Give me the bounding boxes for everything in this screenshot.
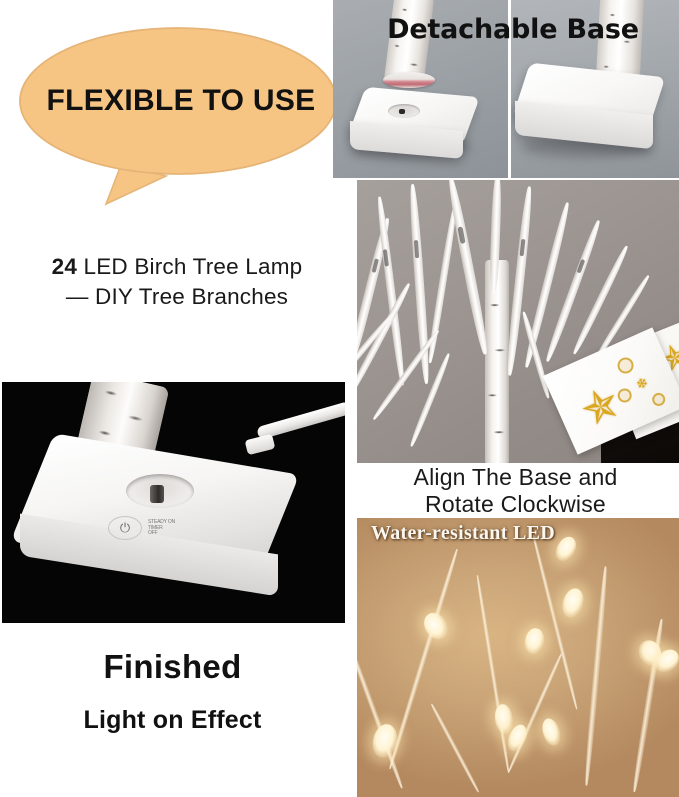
- product-infographic-page: FLEXIBLE TO USE 24 LED Birch Tree Lamp —…: [0, 0, 679, 797]
- detachable-base-panel: Detachable Base: [333, 0, 679, 178]
- tree-instruction-caption: Align The Base and Rotate Clockwise: [352, 464, 679, 518]
- light-on-effect-caption: Light on Effect: [0, 706, 345, 735]
- mode-label-line-3: OFF: [148, 531, 175, 537]
- finished-caption: Finished: [0, 648, 345, 686]
- led-bulb: [559, 586, 586, 620]
- gold-star-icon: ✯: [575, 380, 627, 435]
- birch-tree-branches-photo: ✯ ✯ ❄ ✯ ❄: [357, 180, 679, 463]
- led-branch: [357, 642, 404, 789]
- led-branch: [583, 566, 608, 786]
- base-socket-pin: [399, 109, 405, 114]
- gold-circle-icon: [615, 355, 636, 376]
- tree-caption-line-2: Rotate Clockwise: [352, 491, 679, 518]
- led-branch: [475, 575, 510, 773]
- water-resistant-led-title: Water-resistant LED: [371, 522, 555, 545]
- gold-star-card-overlay: ✯ ✯ ❄ ✯ ❄: [553, 328, 679, 463]
- base-socket-pin: [150, 485, 164, 503]
- tree-main-trunk: [485, 260, 509, 463]
- gold-circle-icon: [650, 391, 667, 408]
- led-branch: [531, 534, 578, 710]
- led-bulb: [552, 533, 580, 564]
- product-title-rest: LED Birch Tree Lamp: [77, 254, 302, 279]
- led-branch: [507, 653, 564, 773]
- detachable-base-title: Detachable Base: [378, 14, 648, 45]
- lit-led-branches-photo: Water-resistant LED: [357, 518, 679, 797]
- bubble-text: FLEXIBLE TO USE: [18, 26, 344, 176]
- tree-branch: [371, 329, 441, 422]
- led-bulb: [419, 608, 452, 643]
- power-icon[interactable]: ⏻: [108, 516, 142, 540]
- gold-star-icon: ❄: [634, 375, 650, 393]
- product-title-line-2: — DIY Tree Branches: [22, 282, 332, 312]
- led-bulb: [523, 627, 546, 656]
- tree-caption-line-1: Align The Base and: [352, 464, 679, 491]
- trunk-connector-ring: [383, 72, 435, 88]
- lamp-base-on-black-photo: ⏻ STEADY ON TIMER OFF: [2, 382, 345, 623]
- led-count: 24: [52, 254, 77, 279]
- product-title-caption: 24 LED Birch Tree Lamp — DIY Tree Branch…: [22, 252, 332, 312]
- speech-bubble: FLEXIBLE TO USE: [18, 26, 344, 211]
- led-bulb: [539, 716, 564, 748]
- tree-branch: [446, 180, 490, 355]
- led-branch: [430, 703, 480, 793]
- power-plug: [245, 434, 276, 455]
- star-card-front: ✯ ❄: [543, 327, 679, 454]
- mode-label: STEADY ON TIMER OFF: [148, 520, 175, 537]
- product-title-line-1: 24 LED Birch Tree Lamp: [22, 252, 332, 282]
